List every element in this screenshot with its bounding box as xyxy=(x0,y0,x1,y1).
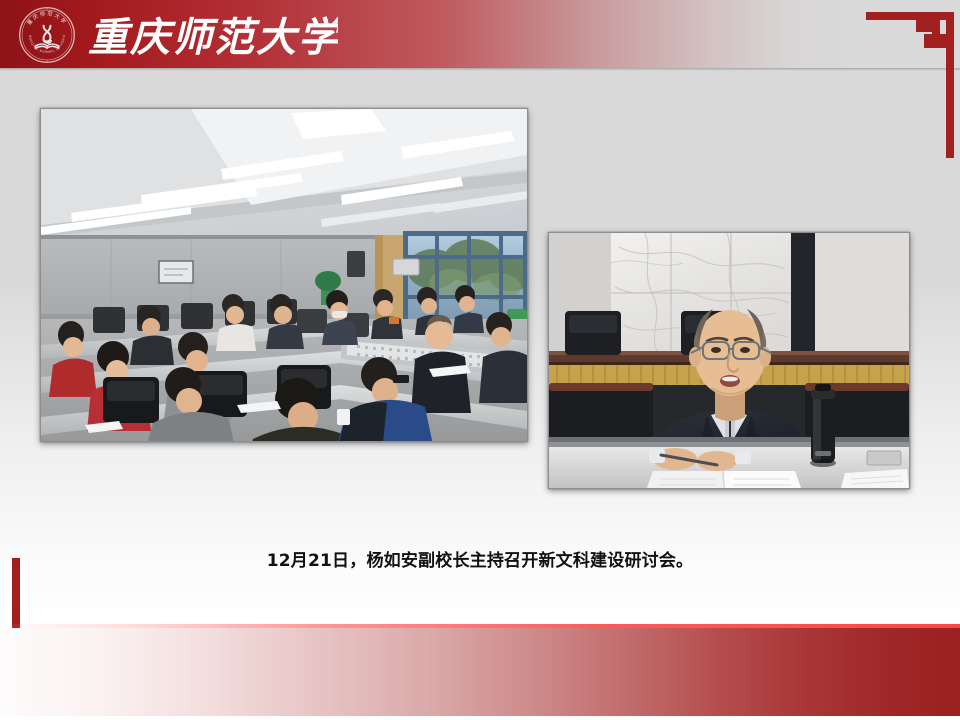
corner-ornament-top-right xyxy=(860,0,960,160)
header-shadow xyxy=(0,68,960,71)
university-wordmark-text: 重庆师范大学 xyxy=(88,15,338,61)
footer-banner xyxy=(0,628,960,716)
university-seal-emblem: 重庆师范大学 CHONGQING NORMAL UNIVERSITY xyxy=(18,6,76,64)
presentation-slide: 重庆师范大学 CHONGQING NORMAL UNIVERSITY xyxy=(0,0,960,720)
university-wordmark: 重庆师范大学 xyxy=(88,5,338,65)
photo-seminar-audience xyxy=(40,108,528,442)
svg-text:重庆师范大学: 重庆师范大学 xyxy=(25,9,69,26)
slide-caption: 12月21日，杨如安副校长主持召开新文科建设研讨会。 xyxy=(0,546,960,571)
footer-base-strip xyxy=(0,716,960,720)
photo-vice-president-speaking xyxy=(548,232,910,489)
